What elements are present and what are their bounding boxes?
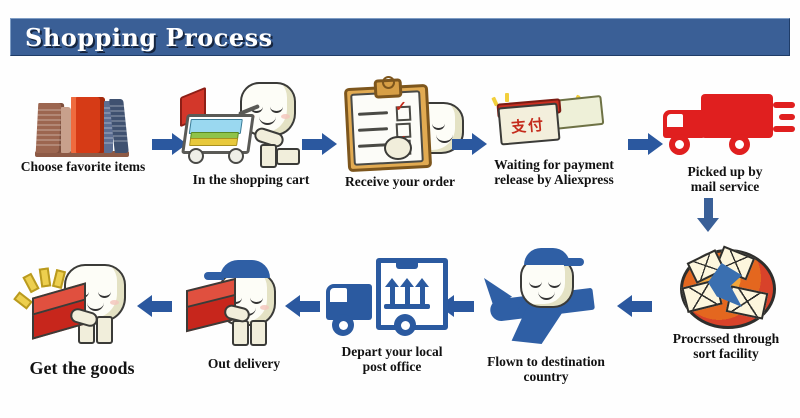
character-with-cart-icon — [178, 78, 328, 170]
blue-cap-icon — [220, 260, 270, 278]
character-on-airplane-icon — [468, 248, 628, 352]
step-flown: Flown to destination country — [468, 248, 624, 384]
step-picked-up: Picked up by mail service — [654, 88, 796, 194]
red-delivery-truck-icon — [655, 88, 795, 162]
step-caption: Get the goods — [10, 358, 154, 378]
page-title: Shopping Process — [25, 23, 273, 52]
seal-text: 支付 — [504, 113, 552, 138]
step-payment-release: 支付 Waiting for payment release by Aliexp… — [474, 93, 634, 187]
shopping-process-infographic: Shopping Process Choose favorite items — [0, 0, 800, 418]
step-caption: In the shopping cart — [178, 172, 324, 187]
step-caption: Out delivery — [176, 356, 312, 371]
step-caption: Waiting for payment release by Aliexpres… — [474, 157, 634, 187]
happy-character-box-icon — [12, 252, 152, 356]
courier-character-icon — [176, 250, 316, 354]
step-caption: Flown to destination country — [468, 354, 624, 384]
envelope-pile-icon — [674, 243, 778, 329]
step-sort-facility: Procrssed through sort facility — [656, 243, 796, 361]
step-get-goods: Get the goods — [10, 252, 154, 378]
step-caption: Procrssed through sort facility — [656, 331, 796, 361]
arrow-down-5 — [697, 198, 720, 234]
step-receive-order: ✓ ✓ Receive your order — [328, 76, 472, 189]
stack-of-books-icon — [35, 95, 131, 157]
clipboard-checklist-icon: ✓ ✓ — [328, 76, 478, 172]
step-depart-post: Depart your local post office — [318, 256, 466, 374]
step-choose-items: Choose favorite items — [8, 95, 158, 174]
step-caption: Depart your local post office — [318, 344, 466, 374]
header-banner: Shopping Process — [10, 18, 790, 56]
payment-seal-icon: 支付 — [479, 93, 629, 155]
blue-post-truck-icon — [318, 256, 468, 342]
step-caption: Picked up by mail service — [654, 164, 796, 194]
step-caption: Receive your order — [328, 174, 472, 189]
step-caption: Choose favorite items — [8, 159, 158, 174]
step-out-delivery: Out delivery — [176, 250, 312, 371]
